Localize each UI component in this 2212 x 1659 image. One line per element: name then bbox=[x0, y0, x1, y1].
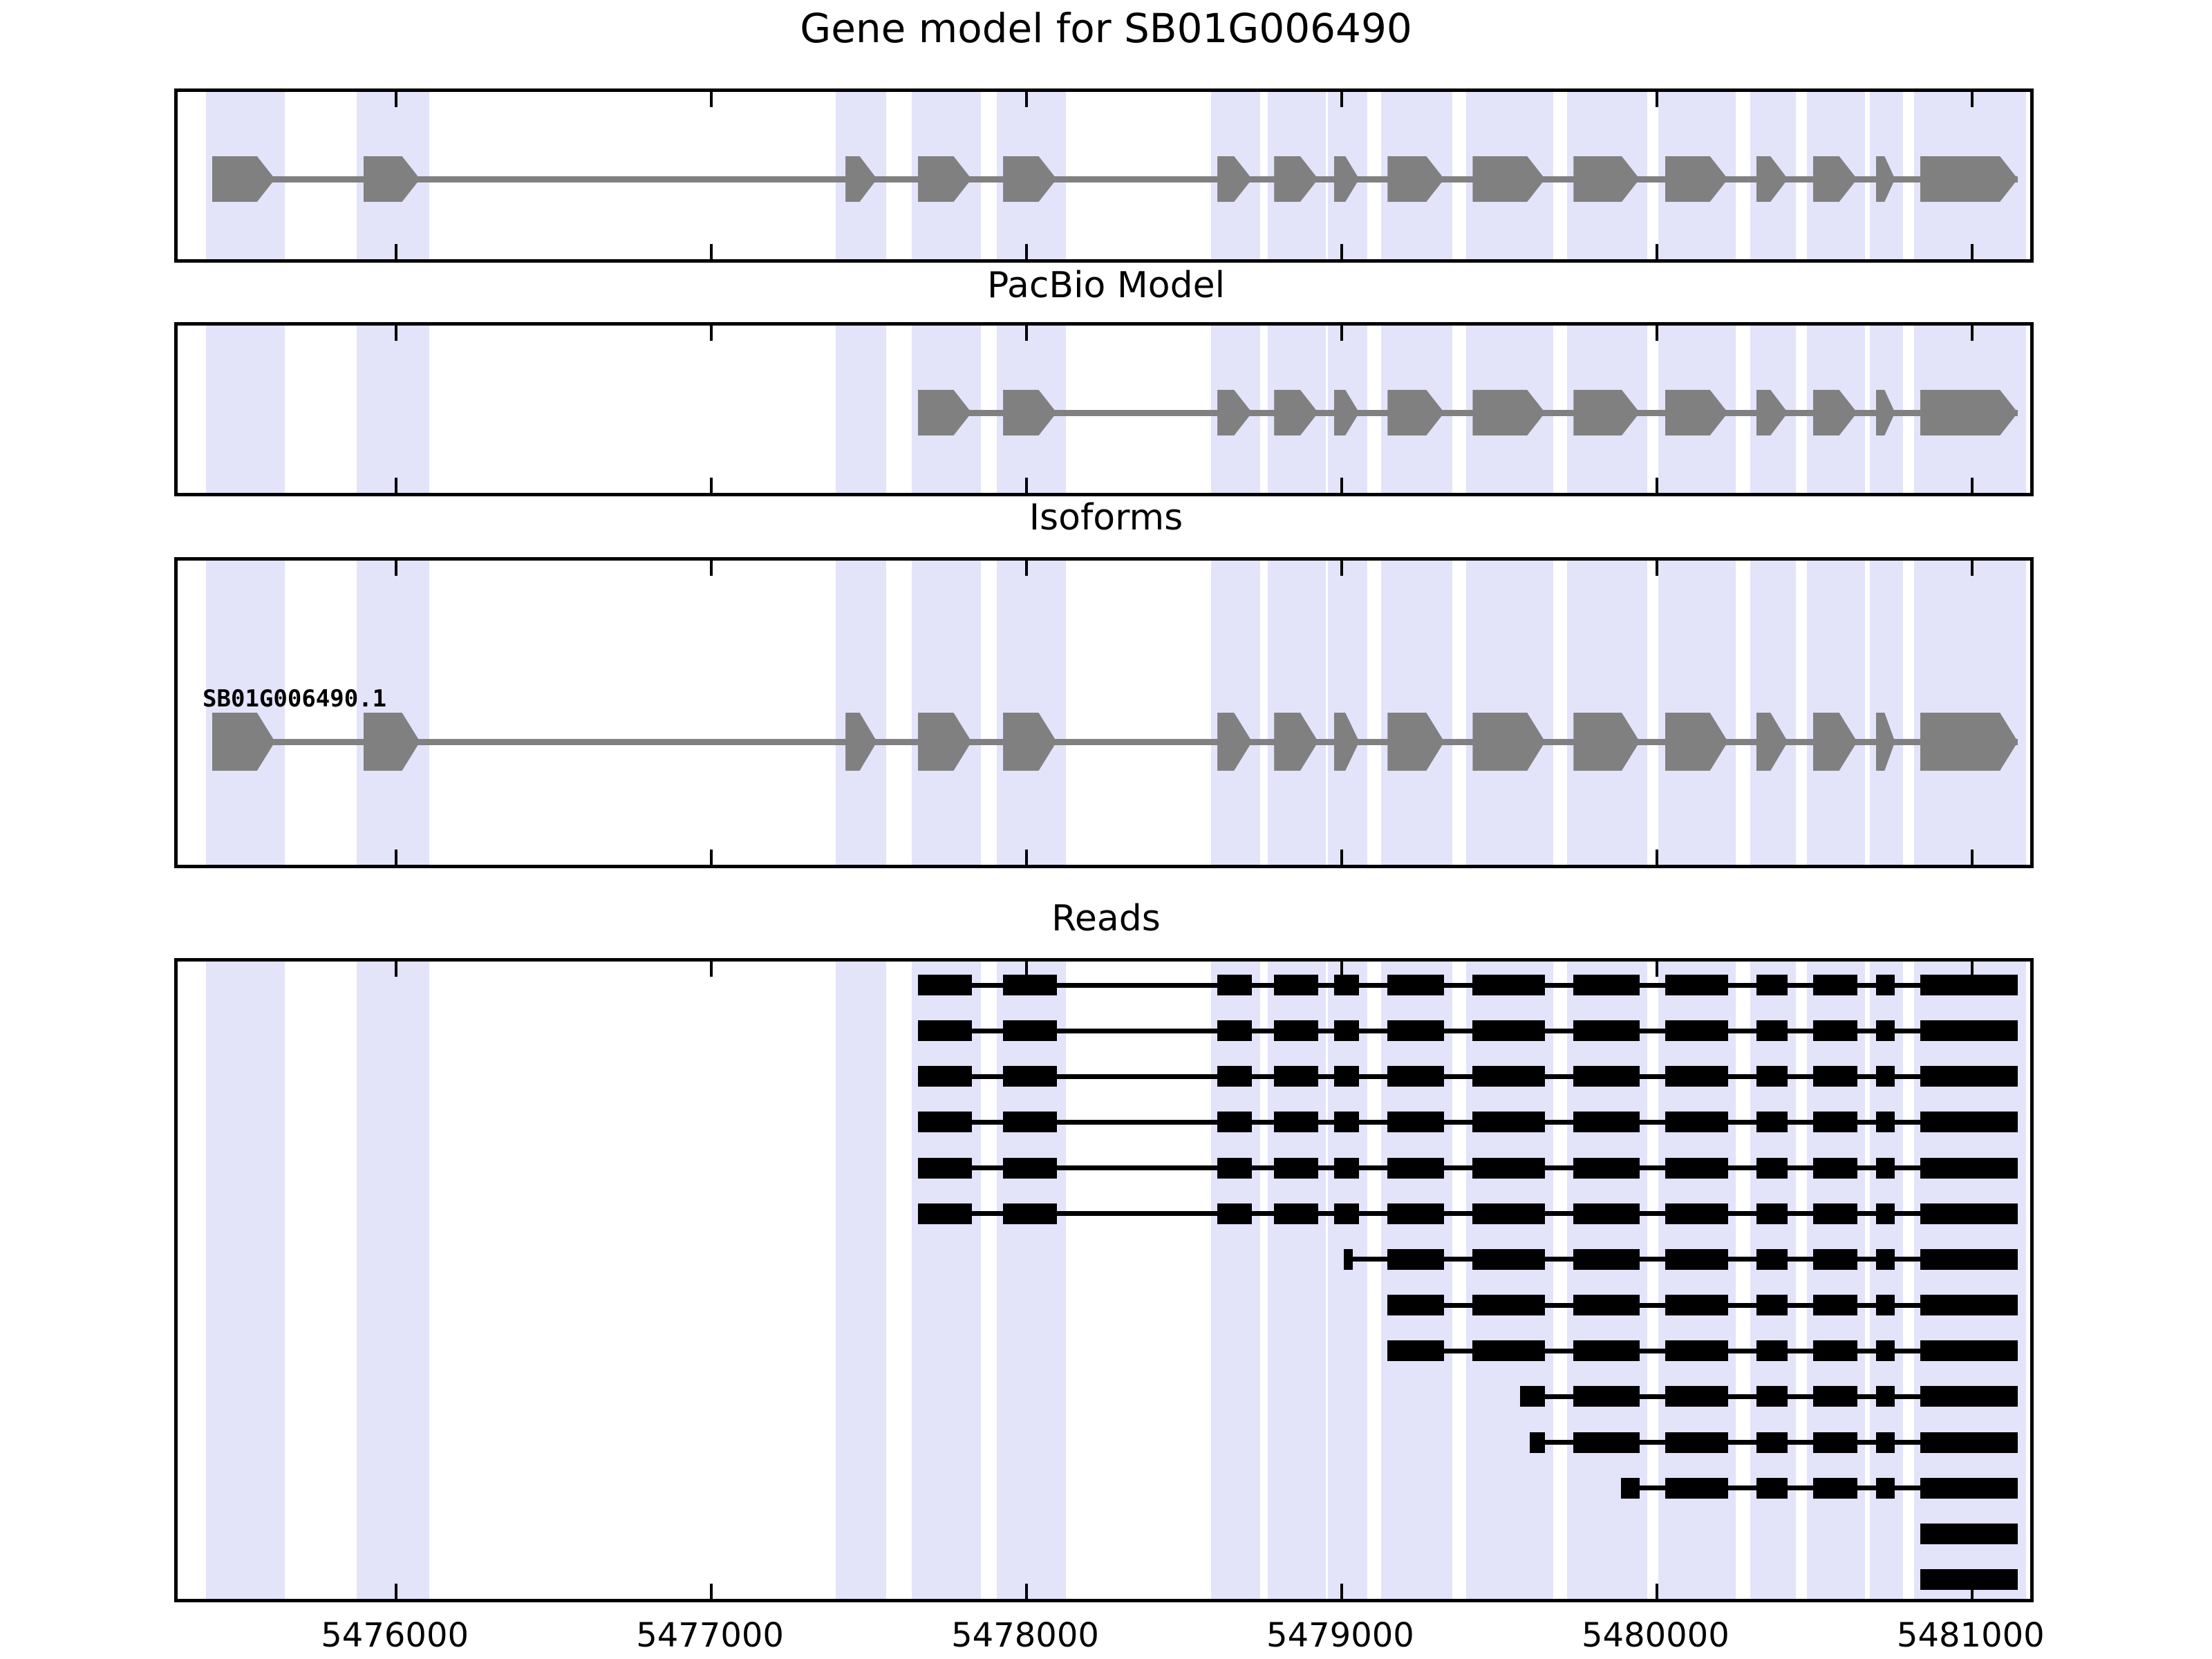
axis-tick-top bbox=[1971, 92, 1974, 107]
x-axis-tick-label: 5478000 bbox=[887, 1616, 1163, 1656]
axis-tick-top bbox=[710, 326, 713, 341]
highlight-band bbox=[1466, 962, 1553, 1599]
read-block bbox=[918, 1158, 972, 1179]
axes-isoforms: SB01G006490.1 bbox=[174, 557, 2034, 868]
axes-gene-model bbox=[174, 88, 2034, 263]
read-block bbox=[1472, 1340, 1545, 1361]
x-axis-tick-label: 5477000 bbox=[572, 1616, 848, 1656]
intron-line bbox=[212, 739, 2018, 745]
axis-tick-bottom bbox=[395, 244, 397, 259]
read-block bbox=[1920, 1158, 2018, 1179]
read-block bbox=[1387, 1295, 1444, 1315]
highlight-band bbox=[357, 326, 429, 493]
axis-tick-bottom bbox=[1025, 850, 1028, 865]
axis-tick-top bbox=[710, 962, 713, 977]
read-block bbox=[1472, 1203, 1545, 1224]
read-block bbox=[1756, 1478, 1788, 1499]
axis-tick-top bbox=[1340, 326, 1343, 341]
read-block bbox=[1334, 1112, 1359, 1132]
read-block bbox=[918, 1020, 972, 1041]
read-block bbox=[1573, 975, 1640, 995]
x-axis-tick-label: 5480000 bbox=[1517, 1616, 1794, 1656]
panel-title-gene-model: Gene model for SB01G006490 bbox=[0, 4, 2212, 53]
axis-tick-top bbox=[710, 561, 713, 576]
axis-tick-top bbox=[395, 962, 397, 977]
read-block bbox=[1813, 1386, 1857, 1407]
read-block bbox=[1665, 1203, 1728, 1224]
panel-title-reads: Reads bbox=[0, 897, 2212, 941]
read-block bbox=[1920, 1203, 2018, 1224]
read-block bbox=[1920, 1569, 2018, 1590]
axis-tick-bottom bbox=[1971, 850, 1974, 865]
read-block bbox=[1756, 1386, 1788, 1407]
intron-line bbox=[212, 176, 2018, 182]
highlight-band bbox=[206, 962, 285, 1599]
highlight-band bbox=[1807, 962, 1865, 1599]
read-block bbox=[1920, 1524, 2018, 1544]
read-block bbox=[1621, 1478, 1640, 1499]
read-block bbox=[1665, 1340, 1728, 1361]
highlight-band bbox=[1870, 561, 1903, 865]
read-block bbox=[1813, 1432, 1857, 1453]
axis-tick-top bbox=[1971, 561, 1974, 576]
axis-tick-bottom bbox=[1656, 244, 1658, 259]
read-block bbox=[1217, 1112, 1252, 1132]
axis-tick-bottom bbox=[710, 1584, 713, 1599]
read-block bbox=[1387, 1203, 1444, 1224]
axis-tick-bottom bbox=[395, 850, 397, 865]
read-block bbox=[1813, 1066, 1857, 1087]
axis-tick-top bbox=[1025, 561, 1028, 576]
read-block bbox=[1573, 1158, 1640, 1179]
read-block bbox=[918, 1112, 972, 1132]
read-block bbox=[1334, 1158, 1359, 1179]
axis-tick-top bbox=[710, 92, 713, 107]
read-block bbox=[1665, 1295, 1728, 1315]
axis-tick-top bbox=[1656, 326, 1658, 341]
axis-tick-bottom bbox=[1340, 850, 1343, 865]
read-block bbox=[1472, 1112, 1545, 1132]
axis-tick-top bbox=[1971, 326, 1974, 341]
read-block bbox=[1573, 1340, 1640, 1361]
read-block bbox=[1003, 1066, 1057, 1087]
read-block bbox=[1573, 1203, 1640, 1224]
read-block bbox=[1003, 975, 1057, 995]
read-block bbox=[1665, 1432, 1728, 1453]
read-block bbox=[1756, 1249, 1788, 1270]
highlight-band bbox=[1328, 962, 1367, 1599]
axis-tick-bottom bbox=[710, 244, 713, 259]
highlight-band bbox=[1211, 962, 1260, 1599]
read-block bbox=[1876, 1249, 1895, 1270]
read-block bbox=[1756, 1158, 1788, 1179]
axis-tick-top bbox=[1656, 962, 1658, 977]
axis-tick-bottom bbox=[1025, 244, 1028, 259]
axis-tick-bottom bbox=[1971, 478, 1974, 493]
highlight-band bbox=[1268, 962, 1326, 1599]
read-block bbox=[1334, 1020, 1359, 1041]
highlight-band bbox=[1750, 962, 1796, 1599]
read-block bbox=[1217, 975, 1252, 995]
axis-tick-bottom bbox=[1025, 1584, 1028, 1599]
highlight-band bbox=[1328, 561, 1367, 865]
isoform-label: SB01G006490.1 bbox=[203, 685, 386, 713]
read-block bbox=[1876, 1340, 1895, 1361]
read-block bbox=[1573, 1020, 1640, 1041]
exon-feature bbox=[1920, 390, 2018, 435]
read-block bbox=[1920, 1112, 2018, 1132]
highlight-band bbox=[1567, 962, 1647, 1599]
read-block bbox=[1573, 1432, 1640, 1453]
axis-tick-bottom bbox=[1025, 478, 1028, 493]
read-block bbox=[918, 1066, 972, 1087]
read-block bbox=[1756, 1112, 1788, 1132]
read-block bbox=[1387, 1020, 1444, 1041]
read-block bbox=[1665, 1020, 1728, 1041]
axis-tick-top bbox=[1340, 92, 1343, 107]
read-block bbox=[1665, 1158, 1728, 1179]
read-block bbox=[1334, 1066, 1359, 1087]
read-block bbox=[1573, 1386, 1640, 1407]
read-block bbox=[1217, 1066, 1252, 1087]
x-axis-tick-label: 5481000 bbox=[1833, 1616, 2109, 1656]
highlight-band bbox=[997, 962, 1066, 1599]
highlight-band bbox=[912, 962, 981, 1599]
read-block bbox=[1665, 1066, 1728, 1087]
read-block bbox=[1876, 1478, 1895, 1499]
axis-tick-bottom bbox=[1340, 244, 1343, 259]
read-block bbox=[1274, 975, 1318, 995]
read-block bbox=[1003, 1203, 1057, 1224]
read-block bbox=[1876, 1295, 1895, 1315]
read-block bbox=[1573, 1295, 1640, 1315]
read-block bbox=[1530, 1432, 1546, 1453]
read-block bbox=[1813, 1478, 1857, 1499]
axis-tick-bottom bbox=[1656, 478, 1658, 493]
highlight-band bbox=[1658, 962, 1736, 1599]
read-block bbox=[1665, 1249, 1728, 1270]
read-block bbox=[1573, 1249, 1640, 1270]
axes-pacbio-model bbox=[174, 322, 2034, 496]
read-block bbox=[1665, 1386, 1728, 1407]
read-block bbox=[1920, 1432, 2018, 1453]
axis-tick-top bbox=[1340, 561, 1343, 576]
read-block bbox=[1756, 975, 1788, 995]
exon-feature bbox=[1920, 713, 2018, 771]
read-block bbox=[1472, 1020, 1545, 1041]
read-block bbox=[1387, 1066, 1444, 1087]
read-block bbox=[1920, 1340, 2018, 1361]
read-block bbox=[1876, 975, 1895, 995]
read-block bbox=[1274, 1066, 1318, 1087]
read-block bbox=[1334, 975, 1359, 995]
read-block bbox=[1756, 1295, 1788, 1315]
read-block bbox=[1573, 1112, 1640, 1132]
axis-tick-bottom bbox=[395, 478, 397, 493]
read-block bbox=[1756, 1020, 1788, 1041]
highlight-band bbox=[1870, 962, 1903, 1599]
highlight-band bbox=[836, 561, 886, 865]
axis-tick-bottom bbox=[1971, 244, 1974, 259]
highlight-band bbox=[836, 962, 886, 1599]
read-block bbox=[1813, 1249, 1857, 1270]
read-block bbox=[1756, 1203, 1788, 1224]
read-block bbox=[1920, 1386, 2018, 1407]
panel-title-pacbio-model: PacBio Model bbox=[0, 264, 2212, 308]
read-block bbox=[1472, 1295, 1545, 1315]
axis-tick-bottom bbox=[710, 478, 713, 493]
read-block bbox=[1274, 1203, 1318, 1224]
panel-title-isoforms: Isoforms bbox=[0, 496, 2212, 540]
read-block bbox=[1387, 1158, 1444, 1179]
read-block bbox=[1665, 1112, 1728, 1132]
gene-browser-figure: Gene model for SB01G006490PacBio ModelIs… bbox=[0, 0, 2212, 1659]
read-block bbox=[1876, 1158, 1895, 1179]
read-block bbox=[1573, 1066, 1640, 1087]
read-block bbox=[1920, 1066, 2018, 1087]
read-block bbox=[1665, 975, 1728, 995]
read-block bbox=[1665, 1478, 1728, 1499]
read-block bbox=[1472, 1066, 1545, 1087]
read-block bbox=[1520, 1386, 1545, 1407]
read-block bbox=[1387, 975, 1444, 995]
read-block bbox=[1003, 1020, 1057, 1041]
highlight-band bbox=[357, 962, 429, 1599]
read-block bbox=[1344, 1249, 1353, 1270]
axis-tick-bottom bbox=[710, 850, 713, 865]
axis-tick-top bbox=[395, 92, 397, 107]
read-block bbox=[1813, 1158, 1857, 1179]
read-block bbox=[1876, 1020, 1895, 1041]
read-block bbox=[1876, 1066, 1895, 1087]
read-block bbox=[1920, 1295, 2018, 1315]
axis-tick-top bbox=[1656, 561, 1658, 576]
axis-tick-bottom bbox=[1340, 478, 1343, 493]
axes-reads bbox=[174, 958, 2034, 1602]
read-block bbox=[918, 975, 972, 995]
read-block bbox=[1813, 975, 1857, 995]
read-block bbox=[1387, 1249, 1444, 1270]
read-block bbox=[1387, 1340, 1444, 1361]
read-block bbox=[1472, 1249, 1545, 1270]
read-block bbox=[1003, 1112, 1057, 1132]
highlight-band bbox=[1381, 962, 1452, 1599]
read-block bbox=[1472, 1158, 1545, 1179]
read-block bbox=[1756, 1340, 1788, 1361]
read-block bbox=[1920, 975, 2018, 995]
read-block bbox=[1813, 1112, 1857, 1132]
axis-tick-top bbox=[395, 326, 397, 341]
read-block bbox=[1387, 1112, 1444, 1132]
exon-feature bbox=[1920, 156, 2018, 202]
x-axis-tick-label: 5476000 bbox=[256, 1616, 533, 1656]
read-block bbox=[1876, 1386, 1895, 1407]
axis-tick-bottom bbox=[1656, 1584, 1658, 1599]
read-block bbox=[1472, 975, 1545, 995]
read-block bbox=[1813, 1295, 1857, 1315]
read-block bbox=[1003, 1158, 1057, 1179]
x-axis-tick-label: 5479000 bbox=[1202, 1616, 1479, 1656]
read-block bbox=[1756, 1432, 1788, 1453]
highlight-band bbox=[1914, 962, 2026, 1599]
read-block bbox=[1756, 1066, 1788, 1087]
read-block bbox=[1274, 1020, 1318, 1041]
axis-tick-top bbox=[1656, 92, 1658, 107]
axis-tick-top bbox=[1025, 326, 1028, 341]
highlight-band bbox=[836, 326, 886, 493]
axis-tick-bottom bbox=[1340, 1584, 1343, 1599]
axis-tick-top bbox=[395, 561, 397, 576]
read-block bbox=[1274, 1112, 1318, 1132]
axis-tick-bottom bbox=[395, 1584, 397, 1599]
axis-tick-top bbox=[1025, 92, 1028, 107]
read-block bbox=[1334, 1203, 1359, 1224]
read-block bbox=[1876, 1203, 1895, 1224]
read-block bbox=[1217, 1158, 1252, 1179]
read-block bbox=[1920, 1020, 2018, 1041]
read-block bbox=[1813, 1020, 1857, 1041]
axis-tick-bottom bbox=[1656, 850, 1658, 865]
read-block bbox=[1217, 1203, 1252, 1224]
read-block bbox=[918, 1203, 972, 1224]
read-block bbox=[1813, 1203, 1857, 1224]
read-block bbox=[1920, 1249, 2018, 1270]
read-block bbox=[1876, 1432, 1895, 1453]
read-block bbox=[1217, 1020, 1252, 1041]
read-block bbox=[1274, 1158, 1318, 1179]
read-block bbox=[1920, 1478, 2018, 1499]
read-block bbox=[1813, 1340, 1857, 1361]
read-block bbox=[1876, 1112, 1895, 1132]
highlight-band bbox=[206, 326, 285, 493]
